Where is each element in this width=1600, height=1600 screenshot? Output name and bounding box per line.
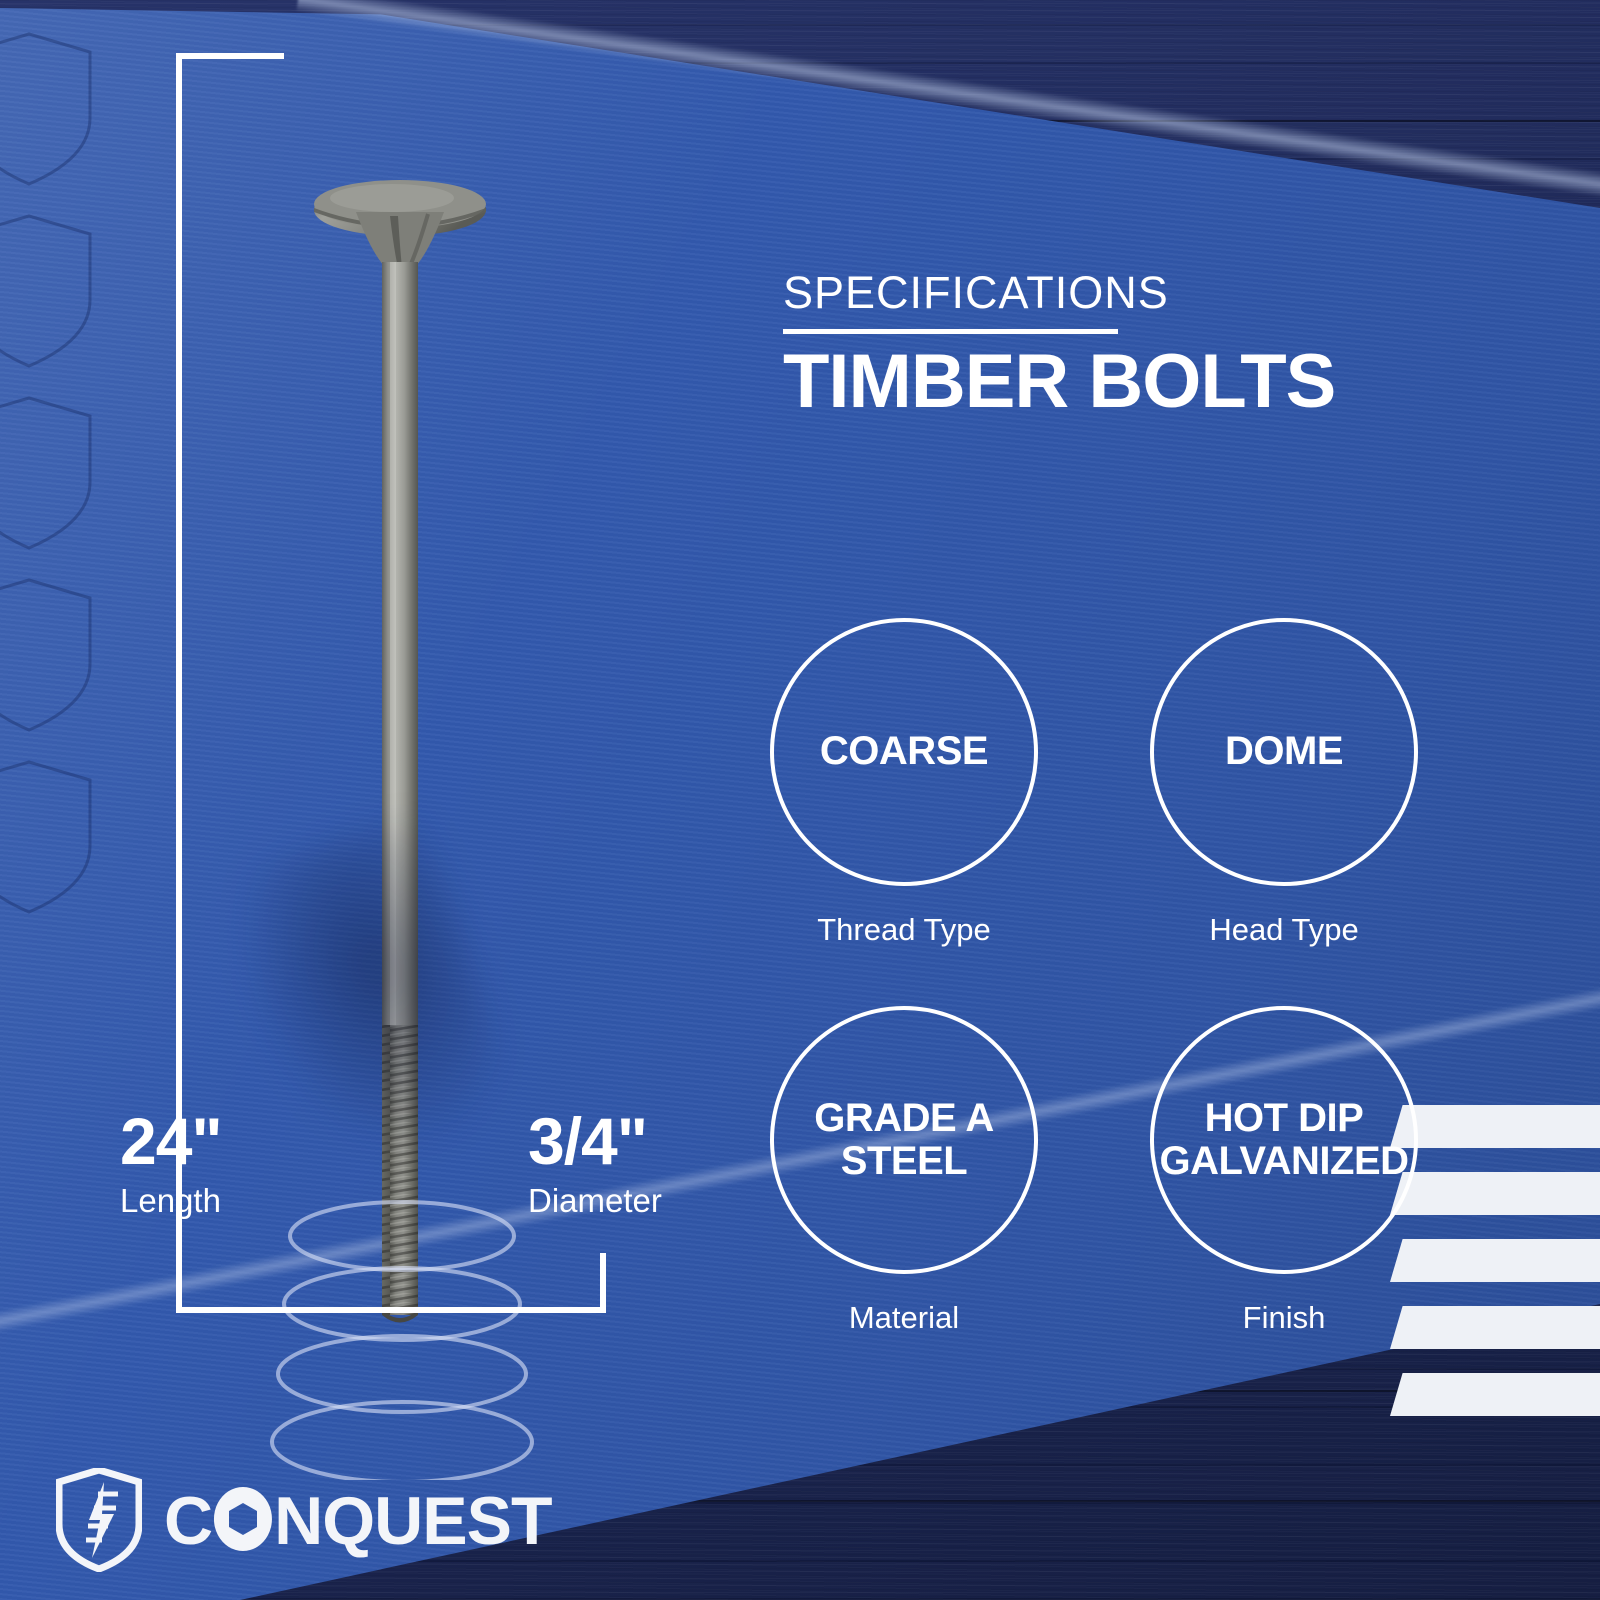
brand-letter: U: [374, 1483, 422, 1559]
spec-badge-row: GRADE A STEEL Material HOT DIP GALVANIZE…: [770, 1006, 1450, 1336]
badge-circle: DOME: [1150, 618, 1418, 886]
badge-value: COARSE: [820, 730, 988, 773]
spec-badge-thread-type: COARSE Thread Type: [770, 618, 1038, 948]
shield-watermark-icon: [0, 394, 94, 552]
shield-watermark-group: [0, 30, 94, 940]
title-divider: [783, 329, 1118, 334]
specifications-kicker: SPECIFICATIONS: [783, 270, 1335, 315]
shield-watermark-icon: [0, 212, 94, 370]
spec-badge-material: GRADE A STEEL Material: [770, 1006, 1038, 1336]
spec-badge-finish: HOT DIP GALVANIZED Finish: [1150, 1006, 1418, 1336]
brand-name: CNQUEST: [164, 1486, 552, 1555]
hexagon-icon: [213, 1486, 273, 1552]
badge-value-line: STEEL: [841, 1139, 967, 1183]
badge-caption: Thread Type: [817, 912, 990, 948]
badge-value: DOME: [1225, 730, 1343, 773]
length-caption: Length: [120, 1180, 222, 1221]
spec-badge-row: COARSE Thread Type DOME Head Type: [770, 618, 1450, 948]
badge-caption: Head Type: [1209, 912, 1358, 948]
badge-value-line: HOT DIP: [1205, 1096, 1364, 1140]
product-image: [240, 150, 560, 1330]
brand-name-text: CNQUEST: [164, 1486, 552, 1555]
brand-letter: Q: [322, 1483, 374, 1559]
brand-logo: CNQUEST: [56, 1468, 552, 1572]
brand-letter: C: [164, 1483, 212, 1559]
badge-circle: GRADE A STEEL: [770, 1006, 1038, 1274]
brand-letter: N: [274, 1483, 322, 1559]
brand-letter: T: [511, 1483, 552, 1559]
badge-caption: Finish: [1243, 1300, 1326, 1336]
badge-circle: COARSE: [770, 618, 1038, 886]
page-title-block: SPECIFICATIONS TIMBER BOLTS: [783, 270, 1335, 422]
brand-letter: S: [467, 1483, 511, 1559]
badge-caption: Material: [849, 1300, 959, 1336]
badge-value: HOT DIP GALVANIZED: [1159, 1097, 1408, 1183]
spec-badge-head-type: DOME Head Type: [1150, 618, 1418, 948]
page-title: TIMBER BOLTS: [783, 342, 1335, 422]
shield-bolt-icon: [56, 1468, 142, 1572]
infographic-canvas: 24" Length 3/4" Diameter SPECIFICATIONS …: [0, 0, 1600, 1600]
shield-watermark-icon: [0, 758, 94, 916]
diameter-value: 3/4": [528, 1108, 662, 1174]
length-value: 24": [120, 1108, 222, 1174]
badge-value-line: GRADE A: [814, 1096, 993, 1140]
badge-value-line: GALVANIZED: [1159, 1139, 1408, 1183]
thread-helix-decoration: [252, 1180, 552, 1480]
brand-letter: E: [422, 1483, 466, 1559]
shield-watermark-icon: [0, 30, 94, 188]
diameter-caption: Diameter: [528, 1180, 662, 1221]
spec-badge-grid: COARSE Thread Type DOME Head Type GRADE …: [770, 618, 1450, 1394]
shield-watermark-icon: [0, 576, 94, 734]
diameter-dimension-bracket: [176, 1253, 606, 1313]
diameter-measurement: 3/4" Diameter: [528, 1108, 662, 1221]
badge-circle: HOT DIP GALVANIZED: [1150, 1006, 1418, 1274]
badge-value: GRADE A STEEL: [814, 1097, 993, 1183]
length-measurement: 24" Length: [120, 1108, 222, 1221]
